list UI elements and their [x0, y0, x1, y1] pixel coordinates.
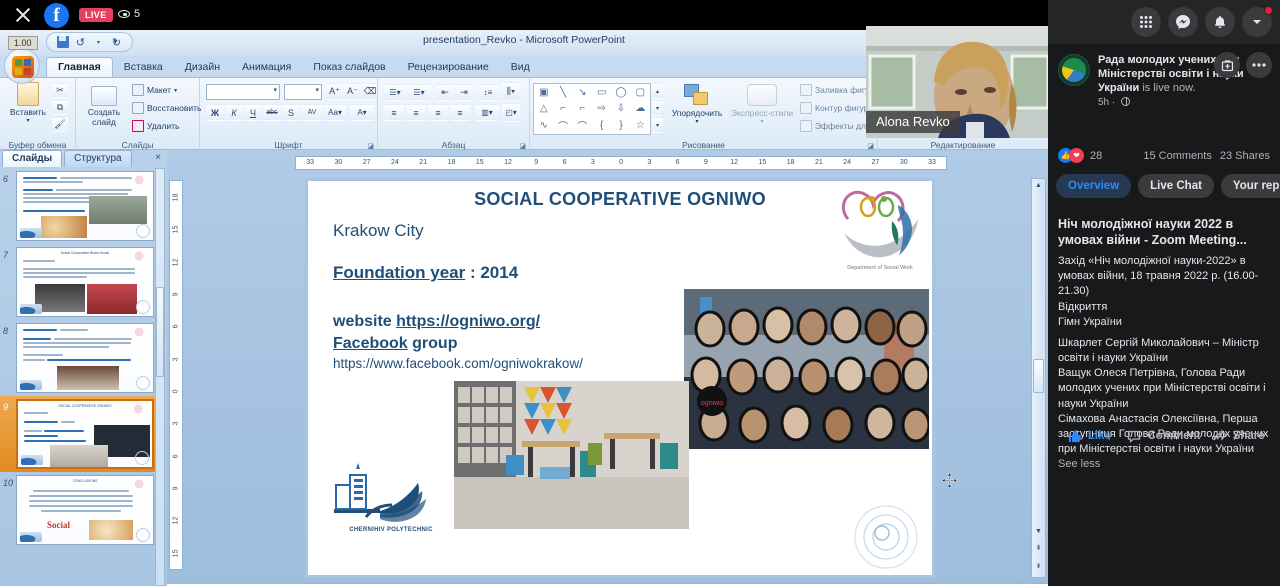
increase-indent-icon[interactable]: ⇥ — [455, 84, 473, 101]
thumbnail-list[interactable]: 6 — [0, 168, 160, 586]
group-label-drawing: Рисование — [530, 140, 877, 150]
office-button[interactable] — [4, 48, 40, 84]
post-line: Шкарлет Сергій Миколайович – Міністр осв… — [1058, 336, 1274, 366]
ruler-tick: 9 — [170, 472, 182, 504]
thumbnail-item[interactable]: 8 — [0, 320, 160, 396]
shape-arc-icon[interactable]: ⌒ — [573, 117, 592, 134]
thumbnail-scrollbar[interactable] — [155, 168, 165, 586]
notifications-bell-icon[interactable] — [1205, 7, 1235, 37]
slide-number: 7 — [3, 250, 8, 260]
decrease-font-icon[interactable]: A⁻ — [344, 83, 361, 100]
post-menu-icon[interactable] — [1246, 52, 1272, 78]
ruler-tick: 30 — [890, 157, 918, 169]
slide-links[interactable]: website https://ogniwo.org/ Facebook gro… — [333, 311, 583, 373]
room-photo-image — [454, 381, 689, 529]
slide-canvas[interactable]: SOCIAL COOPERATIVE OGNIWO Krakow City Fo… — [305, 178, 935, 578]
facebook-label-link[interactable]: Facebook — [333, 335, 408, 352]
ruler-tick: 3 — [579, 157, 607, 169]
ruler-tick: 3 — [170, 343, 182, 375]
tab-animation[interactable]: Анимация — [231, 58, 302, 77]
notification-badge — [1264, 6, 1273, 15]
group-label-editing: Редактирование — [878, 140, 1048, 150]
format-painter-icon[interactable]: 🖌 — [52, 117, 68, 132]
share-count[interactable]: 23 Shares — [1220, 150, 1270, 162]
viewer-count: 5 — [118, 8, 140, 20]
tab-design[interactable]: Дизайн — [174, 58, 231, 77]
ribbon-tabs: Главная Вставка Дизайн Анимация Показ сл… — [46, 56, 541, 77]
scroll-up-icon[interactable]: ▲ — [1032, 179, 1045, 192]
shape-down-arrow-icon[interactable]: ⇩ — [611, 101, 630, 118]
shapes-more-icon[interactable]: ▾ — [652, 117, 663, 133]
ruler-tick: 24 — [381, 157, 409, 169]
close-panel-icon[interactable]: × — [155, 152, 161, 163]
facebook-header-bar — [1048, 0, 1280, 44]
facebook-group-word: group — [412, 335, 457, 352]
slide-number: 6 — [3, 174, 8, 184]
ruler-tick: 15 — [748, 157, 776, 169]
thumbs-up-icon — [1068, 429, 1082, 443]
drawing-dialog-launcher[interactable]: ◪ — [867, 142, 874, 150]
shapes-scroll-up-icon[interactable]: ▴ — [652, 83, 663, 99]
reaction-summary: 👍 ❤ 28 15 Comments 23 Shares — [1058, 148, 1270, 163]
ruler-tick: 15 — [170, 537, 182, 569]
comment-count[interactable]: 15 Comments — [1143, 150, 1211, 162]
ribbon-group-drawing: ▣ ╲ ↘ ▭ ◯ ▢ △ ⌐ ⌐ ⇨ ⇩ ☁ ∿ ⌒ ⌒ — [530, 78, 878, 151]
shape-chevron-icon[interactable]: ⇨ — [592, 101, 611, 118]
ribbon-group-paragraph: ☰▾ ☰▾ ⇤ ⇥ ↕≡ ⫼▾ ≡ ≡ ≡ ≡ ▥▾ ◰▾ Абзац ◪ — [378, 78, 530, 151]
thumbnail-item[interactable]: 7 Social Cooperative Blues House — [0, 244, 160, 320]
post-line: Гімн України — [1058, 315, 1274, 330]
slide-thumbnail[interactable]: Social Cooperative Blues House — [16, 247, 154, 317]
share-button[interactable]: Share — [1201, 422, 1276, 450]
shape-right-brace-icon[interactable]: } — [611, 117, 630, 134]
ruler-tick: 30 — [324, 157, 352, 169]
convert-smartart-icon[interactable]: ◰▾ — [502, 103, 520, 122]
ruler-tick: 6 — [550, 157, 578, 169]
scrollbar-thumb[interactable] — [156, 287, 164, 377]
tab-overview[interactable]: Overview — [1056, 174, 1131, 198]
strikethrough-button[interactable]: abc — [263, 104, 281, 121]
tab-home[interactable]: Главная — [46, 57, 113, 77]
tab-insert[interactable]: Вставка — [113, 58, 174, 77]
slide-thumbnail[interactable]: CONCLUSIONS Social — [16, 475, 154, 545]
post-line: Захід «Ніч молодіжної науки-2022» в умов… — [1058, 254, 1274, 300]
website-link[interactable]: https://ogniwo.org/ — [396, 313, 540, 330]
bullets-icon[interactable]: ☰▾ — [384, 84, 406, 101]
thumbnail-item[interactable]: 6 — [0, 168, 160, 244]
dsw-caption: Department of Social Work — [834, 265, 926, 271]
slide-panel-tabs: Слайды Структура — [2, 150, 134, 167]
align-center-icon[interactable]: ≡ — [406, 104, 426, 121]
numbering-icon[interactable]: ☰▾ — [408, 84, 430, 101]
delete-slide-button[interactable]: Удалить — [132, 120, 179, 132]
delete-icon — [132, 120, 144, 132]
ruler-tick: 33 — [918, 157, 946, 169]
webcam-overlay[interactable]: Alona Revko — [866, 0, 1048, 138]
ribbon-group-font: A⁺ A⁻ ⌫ Ж К Ч abc S AV Aa▾ A▾ Шрифт ◪ — [200, 78, 378, 151]
comment-bubble-icon — [1127, 429, 1141, 443]
facebook-url[interactable]: https://www.facebook.com/ogniwokrakow/ — [333, 355, 583, 373]
version-tooltip: 1.00 — [8, 36, 38, 50]
account-chevron-icon[interactable] — [1242, 7, 1272, 37]
ruler-tick: 0 — [607, 157, 635, 169]
font-color-button[interactable]: A▾ — [350, 104, 374, 121]
group-label-slides: Слайды — [76, 140, 199, 150]
thumbnail-item-selected[interactable]: 9 SOCIAL COOPERATIVE OGNIWO — [0, 396, 160, 472]
change-case-button[interactable]: Aa▾ — [324, 104, 346, 121]
reset-button[interactable]: Восстановить — [132, 102, 201, 114]
ruler-tick: 18 — [777, 157, 805, 169]
shape-rectangle-icon[interactable]: ▭ — [592, 84, 611, 101]
shape-textbox-icon[interactable]: ▣ — [534, 84, 553, 101]
shape-left-brace-icon[interactable]: { — [592, 117, 611, 134]
sidebar-tabs: Overview Live Chat Your replies — [1056, 174, 1280, 198]
department-social-work-logo-icon — [834, 185, 926, 269]
group-label-paragraph: Абзац — [378, 140, 529, 150]
post-title: Ніч молодіжної науки 2022 в умовах війни… — [1058, 216, 1272, 249]
shape-oval-icon[interactable]: ◯ — [611, 84, 630, 101]
tab-outline[interactable]: Структура — [64, 150, 131, 167]
scrollbar-thumb[interactable] — [1033, 359, 1044, 393]
shape-outline-icon — [800, 102, 812, 114]
shape-elbow-arrow-icon[interactable]: ⌐ — [573, 101, 592, 118]
font-dialog-launcher[interactable]: ◪ — [367, 142, 374, 150]
tab-review[interactable]: Рецензирование — [397, 58, 500, 77]
tab-view[interactable]: Вид — [500, 58, 541, 77]
post-engagement-bar: Like Comment Share — [1052, 422, 1276, 450]
ruler-tick: 12 — [494, 157, 522, 169]
eye-icon — [118, 10, 130, 18]
char-spacing-button[interactable]: AV — [301, 104, 323, 121]
decorative-swirl-icon — [840, 485, 924, 569]
cut-icon[interactable]: ✂ — [52, 83, 68, 98]
ruler-tick: 9 — [692, 157, 720, 169]
facebook-logo-icon[interactable]: f — [44, 3, 69, 28]
tab-slides[interactable]: Слайды — [2, 150, 62, 167]
group-label-clipboard: Буфер обмена — [0, 140, 75, 150]
group-photo-image: ogniwo — [684, 289, 929, 449]
slide-thumbnail[interactable]: SOCIAL COOPERATIVE OGNIWO — [16, 399, 154, 469]
tab-slideshow[interactable]: Показ слайдов — [302, 58, 396, 77]
shape-scribble-icon[interactable]: ∿ — [534, 117, 553, 134]
page-avatar[interactable] — [1058, 54, 1090, 86]
shape-cloud-icon[interactable]: ☁ — [631, 101, 650, 118]
ribbon-group-slides: Создать слайд Макет▾ Восстановить Удалит… — [76, 78, 200, 151]
decrease-indent-icon[interactable]: ⇤ — [436, 84, 454, 101]
justify-icon[interactable]: ≡ — [450, 104, 470, 121]
ruler-tick: 21 — [805, 157, 833, 169]
slide-city[interactable]: Krakow City — [333, 221, 424, 241]
post-line: Відкриття — [1058, 300, 1274, 315]
italic-button[interactable]: К — [225, 104, 243, 121]
shape-effects-icon — [800, 120, 812, 132]
ribbon-group-clipboard: Вставить ▾ ✂ ⧉ 🖌 Буфер обмена — [0, 78, 76, 151]
tab-your-replies[interactable]: Your replies — [1221, 174, 1280, 198]
paste-button[interactable]: Вставить ▾ — [6, 82, 50, 124]
font-name-input[interactable] — [206, 84, 280, 100]
public-globe-icon — [1121, 97, 1130, 106]
slide-number: 10 — [3, 478, 13, 488]
website-label: website — [333, 313, 392, 330]
post-action-buttons — [1214, 52, 1272, 78]
chernihiv-polytechnic-logo-icon — [326, 461, 456, 531]
underline-button[interactable]: Ч — [244, 104, 262, 121]
shadow-button[interactable]: S — [282, 104, 300, 121]
ruler-tick: 6 — [170, 310, 182, 342]
ruler-tick: 24 — [833, 157, 861, 169]
share-arrow-icon — [1213, 429, 1227, 443]
ruler-tick: 6 — [663, 157, 691, 169]
align-left-icon[interactable]: ≡ — [384, 104, 404, 121]
columns-icon[interactable]: ▥▾ — [475, 104, 499, 121]
increase-font-icon[interactable]: A⁺ — [326, 83, 343, 100]
slide-number: 8 — [3, 326, 8, 336]
ruler-tick: 3 — [635, 157, 663, 169]
undo-dropdown-icon[interactable]: ▾ — [91, 35, 106, 50]
slide-foundation-year[interactable]: Foundation year : 2014 — [333, 263, 518, 283]
customize-qat-icon[interactable]: ▾ — [108, 34, 123, 49]
shape-curve-icon[interactable]: ⌒ — [553, 117, 572, 134]
ruler-tick: 12 — [720, 157, 748, 169]
layout-button[interactable]: Макет▾ — [132, 84, 177, 96]
mouse-cursor-move-icon — [942, 473, 957, 488]
foundation-value: 2014 — [480, 263, 518, 282]
clear-format-icon[interactable]: ⌫ — [363, 83, 377, 100]
live-badge: LIVE — [79, 8, 113, 22]
shapes-gallery[interactable]: ▣ ╲ ↘ ▭ ◯ ▢ △ ⌐ ⌐ ⇨ ⇩ ☁ ∿ ⌒ ⌒ — [533, 83, 651, 135]
slide-edit-area: 33 30 27 24 21 18 15 12 9 6 3 0 3 6 9 12… — [167, 150, 1048, 586]
quick-styles-button[interactable]: Экспресс-стили▾ — [730, 84, 794, 125]
new-slide-button[interactable]: Создать слайд — [80, 86, 128, 127]
text-direction-icon[interactable]: ⫼▾ — [502, 82, 520, 101]
scroll-down-icon[interactable]: ▼ — [1032, 525, 1045, 538]
paragraph-dialog-launcher[interactable]: ◪ — [519, 142, 526, 150]
ruler-tick: 12 — [170, 246, 182, 278]
shape-line-icon[interactable]: ╲ — [553, 84, 572, 101]
save-icon[interactable] — [55, 35, 70, 50]
copy-icon[interactable]: ⧉ — [52, 100, 68, 115]
save-post-icon[interactable] — [1214, 52, 1240, 78]
cnp-caption: CHERNIHIV POLYTECHNIC — [326, 527, 456, 533]
align-right-icon[interactable]: ≡ — [428, 104, 448, 121]
slide-number: 9 — [3, 402, 8, 412]
thumbnail-item[interactable]: 10 CONCLUSIONS Social — [0, 472, 160, 548]
shape-elbow-icon[interactable]: ⌐ — [553, 101, 572, 118]
shapes-scroll-down-icon[interactable]: ▾ — [652, 100, 663, 116]
group-label-font: Шрифт — [200, 140, 377, 150]
like-button[interactable]: Like — [1052, 422, 1127, 450]
bold-button[interactable]: Ж — [206, 104, 224, 121]
horizontal-ruler: 33 30 27 24 21 18 15 12 9 6 3 0 3 6 9 12… — [295, 156, 947, 170]
participant-name-label: Alona Revko — [866, 111, 960, 133]
ruler-tick: 27 — [861, 157, 889, 169]
ruler-tick: 9 — [522, 157, 550, 169]
screen-root: f LIVE 5 presentation_Revko - Microsoft — [0, 0, 1280, 586]
shape-triangle-icon[interactable]: △ — [534, 101, 553, 118]
ruler-tick: 27 — [353, 157, 381, 169]
live-status: is live now. — [1142, 82, 1195, 94]
shape-star-icon[interactable]: ☆ — [631, 117, 650, 134]
office-logo-icon — [12, 56, 34, 78]
line-spacing-icon[interactable]: ↕≡ — [477, 84, 499, 101]
slide-thumbnail[interactable] — [16, 171, 154, 241]
tab-live-chat[interactable]: Live Chat — [1138, 174, 1214, 198]
font-size-input[interactable] — [284, 84, 322, 100]
see-less-link[interactable]: See less — [1058, 458, 1100, 470]
slide-vertical-scrollbar[interactable]: ▲ ▼ ⇞ ⇟ — [1031, 178, 1046, 578]
ruler-tick: 33 — [296, 157, 324, 169]
close-icon[interactable] — [14, 6, 32, 24]
comment-button[interactable]: Comment — [1127, 422, 1202, 450]
vertical-ruler: 18 15 12 9 6 3 0 3 6 9 12 15 — [169, 180, 183, 570]
shape-rounded-rect-icon[interactable]: ▢ — [631, 84, 650, 101]
grid-menu-icon[interactable] — [1131, 7, 1161, 37]
layout-icon — [132, 84, 144, 96]
reset-icon — [132, 102, 144, 114]
facebook-post-sidebar: Рада молодих учених при Міністерстві осв… — [1048, 44, 1280, 586]
svg-text:ogniwo: ogniwo — [701, 400, 723, 407]
slide-thumbnail-panel: Слайды Структура × 6 — [0, 150, 167, 586]
reaction-count[interactable]: 28 — [1090, 150, 1102, 162]
ruler-tick: 21 — [409, 157, 437, 169]
undo-icon[interactable]: ↺ — [73, 35, 88, 50]
messenger-icon[interactable] — [1168, 7, 1198, 37]
header-icon-group — [1131, 7, 1272, 37]
ruler-tick: 18 — [437, 157, 465, 169]
ruler-tick: 12 — [170, 504, 182, 536]
shape-fill-icon — [800, 84, 812, 96]
shape-arrow-icon[interactable]: ↘ — [573, 84, 592, 101]
ruler-tick: 0 — [170, 375, 182, 407]
ruler-tick: 9 — [170, 278, 182, 310]
ruler-tick: 3 — [170, 407, 182, 439]
ruler-tick: 18 — [170, 181, 182, 213]
slide-thumbnail[interactable] — [16, 323, 154, 393]
love-reaction-icon: ❤ — [1069, 148, 1084, 163]
foundation-label: Foundation year — [333, 263, 465, 282]
ruler-tick: 15 — [170, 213, 182, 245]
post-time: 5h · — [1098, 97, 1270, 108]
post-line: Ващук Олеся Петрівна, Голова Ради молоди… — [1058, 366, 1274, 412]
ruler-tick: 15 — [466, 157, 494, 169]
ruler-tick: 6 — [170, 440, 182, 472]
arrange-button[interactable]: Упорядочить▾ — [668, 84, 726, 125]
next-slide-icon[interactable]: ⇟ — [1032, 559, 1045, 572]
previous-slide-icon[interactable]: ⇞ — [1032, 541, 1045, 554]
